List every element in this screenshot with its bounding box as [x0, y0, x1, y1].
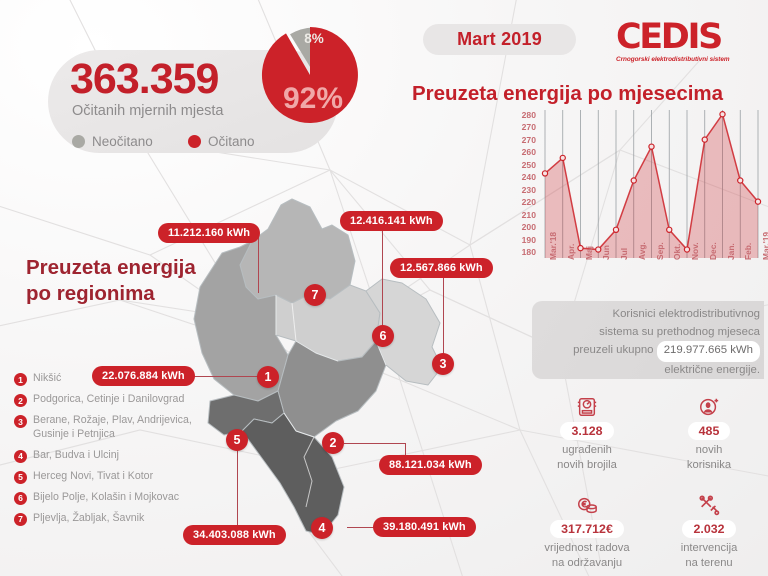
legend-read-swatch — [188, 135, 201, 148]
stat-label-line2: novih brojila — [528, 458, 646, 473]
stat-label-line1: ugrađenih — [528, 443, 646, 458]
stat-card-3: 2.032intervencijana terenu — [650, 490, 768, 570]
map-marker-3[interactable]: 3 — [432, 353, 454, 375]
monthly-energy-chart: 280270270260250240230220210200190180 Mar… — [512, 110, 764, 295]
stat-label-line2: korisnika — [650, 458, 768, 473]
map-marker-4[interactable]: 4 — [311, 517, 333, 539]
chart-ytick-5: 240 — [512, 172, 536, 182]
region-legend-number: 3 — [14, 415, 27, 428]
readings-count: 363.359 — [70, 55, 218, 104]
electricity-meter-icon — [528, 392, 646, 418]
leader-line-3 — [443, 274, 444, 358]
map-marker-6[interactable]: 6 — [372, 325, 394, 347]
stat-label: novihkorisnika — [650, 443, 768, 472]
readings-caption: Očitanih mjernih mjesta — [72, 103, 224, 119]
new-user-icon — [650, 392, 768, 418]
callout-region-6: 12.416.141 kWh — [340, 211, 443, 231]
region-legend-number: 7 — [14, 513, 27, 526]
legend-unread-label: Neočitano — [92, 134, 153, 149]
region-legend-label: Pljevlja, Žabljak, Šavnik — [33, 512, 144, 526]
callout-region-4: 39.180.491 kWh — [373, 517, 476, 537]
map-marker-7[interactable]: 7 — [304, 284, 326, 306]
chart-xtick-10: Jan. — [726, 243, 736, 260]
chart-xtick-6: Sep. — [655, 242, 665, 260]
total-energy-text: Korisnici elektrodistributivnog sistema … — [528, 306, 764, 379]
chart-ytick-6: 230 — [512, 185, 536, 195]
region-legend-label: Bar, Budva i Ulcinj — [33, 449, 119, 463]
stat-value: 317.712€ — [550, 520, 624, 538]
stat-label: vrijednost radovana održavanju — [528, 541, 646, 570]
tools-icon — [650, 490, 768, 516]
chart-xtick-7: Okt. — [672, 244, 682, 260]
region-legend-number: 2 — [14, 394, 27, 407]
chart-xtick-9: Dec. — [708, 242, 718, 260]
legend-unread: Neočitano — [72, 134, 153, 149]
region-legend-number: 1 — [14, 373, 27, 386]
month-badge: Mart 2019 — [423, 24, 576, 55]
chart-xtick-1: Apr. — [566, 244, 576, 260]
map-region-4[interactable] — [242, 413, 344, 535]
stat-label-line2: na održavanju — [528, 556, 646, 571]
chart-ytick-3: 260 — [512, 147, 536, 157]
chart-ytick-4: 250 — [512, 160, 536, 170]
stat-label-line1: vrijednost radova — [528, 541, 646, 556]
stat-card-0: 3.128ugrađenihnovih brojila — [528, 392, 646, 472]
leader-line-2 — [344, 443, 406, 444]
stat-card-2: 317.712€vrijednost radovana održavanju — [528, 490, 646, 570]
chart-ytick-7: 220 — [512, 197, 536, 207]
chart-xtick-0: Mar.'18 — [548, 232, 558, 260]
chart-ytick-2: 270 — [512, 135, 536, 145]
map-marker-2[interactable]: 2 — [322, 432, 344, 454]
region-legend-number: 6 — [14, 492, 27, 505]
cedis-logo-wordmark: CEDIS — [616, 20, 756, 55]
total-energy-line3: preuzeli ukupno 219.977.665 kWh — [528, 341, 760, 362]
chart-xtick-4: Jul — [619, 248, 629, 260]
chart-ytick-11: 180 — [512, 247, 536, 257]
chart-ytick-0: 280 — [512, 110, 536, 120]
stat-card-1: 485novihkorisnika — [650, 392, 768, 472]
stat-label-line2: na terenu — [650, 556, 768, 571]
chart-xtick-12: Mar.'19 — [761, 232, 768, 260]
total-energy-line2: sistema su prethodnog mjeseca — [528, 324, 760, 342]
cedis-logo-tagline: Crnogorski elektrodistributivni sistem — [616, 56, 756, 63]
chart-ytick-1: 270 — [512, 122, 536, 132]
region-legend-label: Nikšić — [33, 372, 61, 386]
stat-label-line1: intervencija — [650, 541, 768, 556]
coins-euro-icon — [528, 490, 646, 516]
chart-xtick-5: Avg. — [637, 242, 647, 260]
callout-region-3: 12.567.866 kWh — [390, 258, 493, 278]
chart-ytick-8: 210 — [512, 210, 536, 220]
total-energy-line4: električne energije. — [528, 362, 760, 380]
pie-read-percent: 92% — [278, 82, 348, 116]
total-energy-line1: Korisnici elektrodistributivnog — [528, 306, 760, 324]
chart-title: Preuzeta energija po mjesecima — [412, 82, 762, 106]
chart-xtick-2: Maj — [584, 246, 594, 260]
chart-xtick-11: Feb. — [743, 243, 753, 260]
region-legend-number: 5 — [14, 471, 27, 484]
legend-read: Očitano — [188, 134, 255, 149]
region-legend-number: 4 — [14, 450, 27, 463]
map-marker-5[interactable]: 5 — [226, 429, 248, 451]
stat-value: 3.128 — [560, 422, 613, 440]
stat-value: 2.032 — [682, 520, 735, 538]
legend-unread-swatch — [72, 135, 85, 148]
cedis-logo[interactable]: CEDIS Crnogorski elektrodistributivni si… — [616, 20, 756, 63]
stat-label-line1: novih — [650, 443, 768, 458]
stat-value: 485 — [688, 422, 731, 440]
region-legend-label: Podgorica, Cetinje i Danilovgrad — [33, 393, 184, 407]
chart-xtick-3: Jun — [601, 245, 611, 260]
map-marker-1[interactable]: 1 — [257, 366, 279, 388]
region-legend-label: Bijelo Polje, Kolašin i Mojkovac — [33, 491, 179, 505]
leader-line-5 — [237, 440, 238, 535]
chart-ytick-9: 200 — [512, 222, 536, 232]
stat-label: ugrađenihnovih brojila — [528, 443, 646, 472]
total-energy-value: 219.977.665 kWh — [657, 341, 760, 362]
callout-region-5: 34.403.088 kWh — [183, 525, 286, 545]
legend-read-label: Očitano — [208, 134, 255, 149]
chart-ytick-10: 190 — [512, 235, 536, 245]
chart-plot-area — [539, 110, 764, 258]
region-legend-label: Herceg Novi, Tivat i Kotor — [33, 470, 153, 484]
total-energy-line3-prefix: preuzeli ukupno — [573, 344, 653, 356]
stat-label: intervencijana terenu — [650, 541, 768, 570]
leader-line-6 — [382, 227, 383, 329]
chart-xtick-8: Nov. — [690, 242, 700, 260]
callout-region-1: 22.076.884 kWh — [92, 366, 195, 386]
pie-unread-percent: 8% — [297, 31, 331, 46]
callout-region-2: 88.121.034 kWh — [379, 455, 482, 475]
callout-region-7: 11.212.160 kWh — [158, 223, 260, 243]
leader-line-7 — [258, 233, 259, 293]
